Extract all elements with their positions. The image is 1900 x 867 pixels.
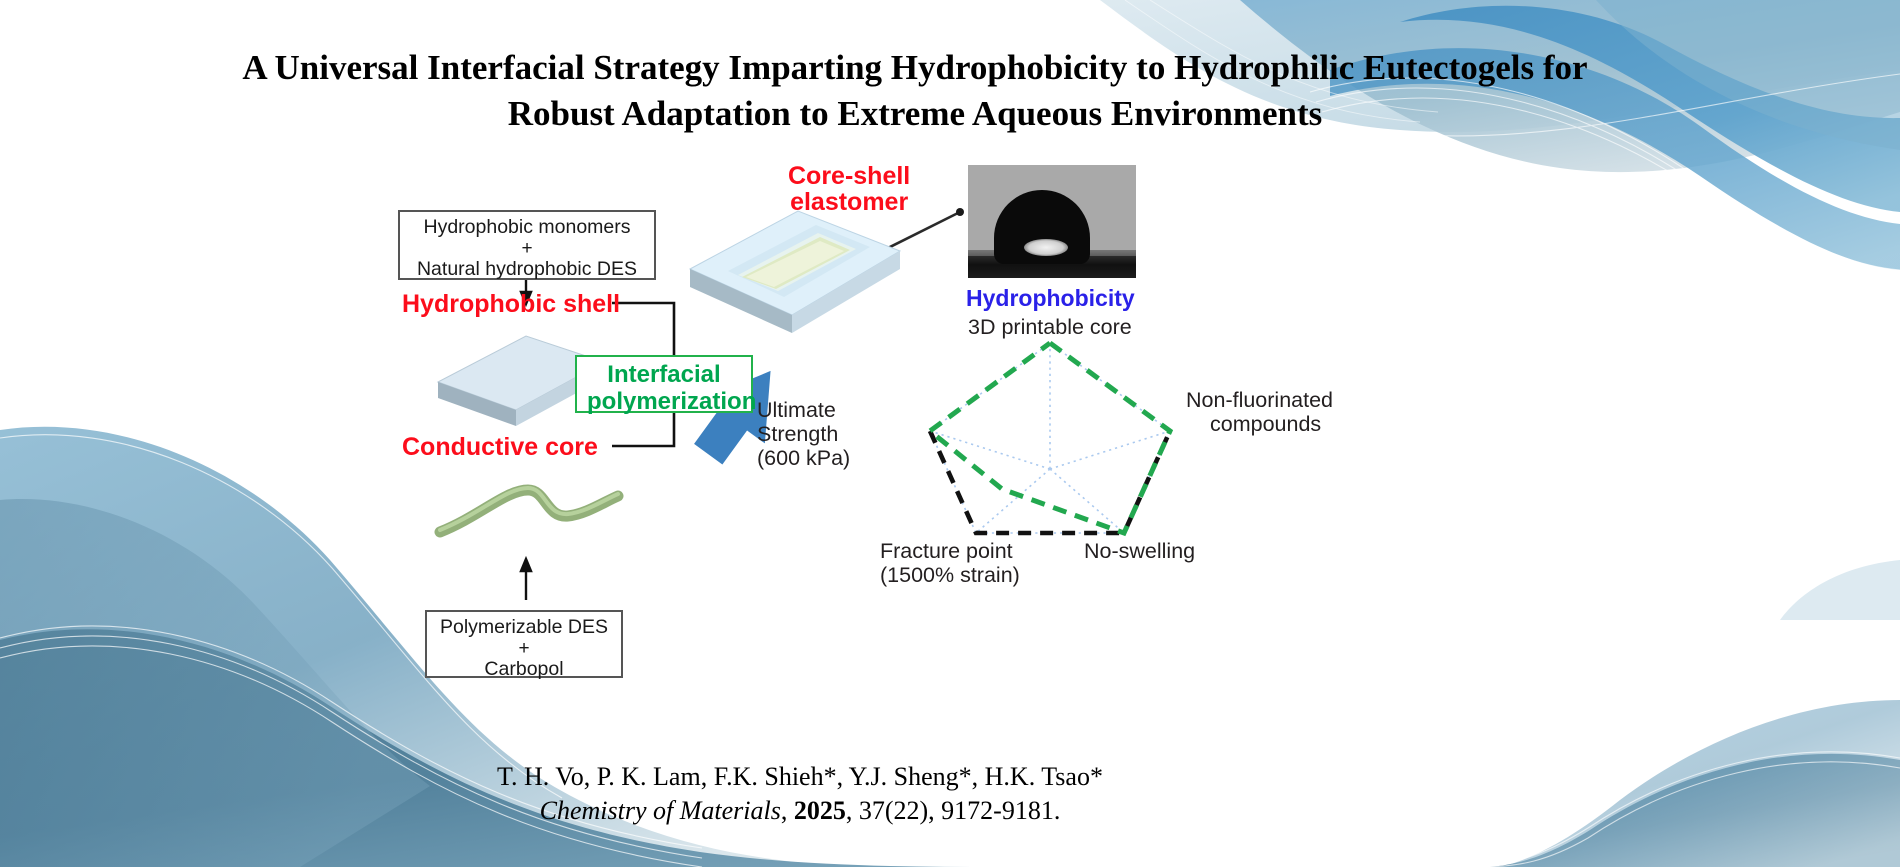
bracket-shell-to-process	[612, 303, 674, 360]
ultimate-line-1: Ultimate	[757, 398, 836, 422]
radar-series-reference	[930, 431, 1170, 533]
shell-input-line-1: Hydrophobic monomers	[423, 216, 630, 238]
journal-separator: ,	[781, 796, 794, 825]
product-label-line-1: Core-shell	[788, 162, 910, 190]
core-inputs-box: Polymerizable DES + Carbopol	[425, 610, 623, 678]
fracture-line-1: Fracture point	[880, 539, 1013, 563]
shell-input-plus: +	[408, 239, 646, 258]
droplet-specular-highlight	[1024, 239, 1068, 256]
radar-grid	[930, 343, 1170, 533]
ultimate-line-2: Strength	[757, 422, 838, 446]
core-shell-elastomer-slab-icon	[680, 205, 910, 340]
conductive-core-label: Conductive core	[402, 433, 598, 462]
fracture-line-2: (1500% strain)	[880, 563, 1020, 587]
shell-input-line-2: Natural hydrophobic DES	[417, 258, 637, 280]
nonfluor-line-2: compounds	[1186, 412, 1321, 436]
arrow-core-inputs-to-core	[521, 559, 531, 600]
core-input-line-2: Carbopol	[484, 658, 563, 680]
title-line-2: Robust Adaptation to Extreme Aqueous Env…	[50, 91, 1780, 137]
interfacial-polymerization-box: Interfacial polymerization	[575, 355, 753, 413]
hydrophobicity-label: Hydrophobicity	[966, 285, 1135, 312]
core-input-line-1: Polymerizable DES	[440, 616, 608, 638]
journal-year: 2025	[794, 796, 846, 825]
core-shell-elastomer-label: Core-shell elastomer	[788, 163, 910, 216]
conductive-core-fiber-icon	[428, 470, 628, 550]
title-line-1: A Universal Interfacial Strategy Imparti…	[242, 48, 1587, 87]
hydrophobic-shell-label: Hydrophobic shell	[402, 290, 620, 319]
radar-axis-label-fracture-point: Fracture point (1500% strain)	[880, 539, 1020, 587]
core-input-plus: +	[435, 639, 613, 658]
graphical-abstract: Hydrophobic monomers + Natural hydrophob…	[380, 155, 1560, 605]
citation-authors: T. H. Vo, P. K. Lam, F.K. Shieh*, Y.J. S…	[300, 760, 1300, 794]
journal-rest: , 37(22), 9172-9181.	[846, 796, 1060, 825]
nonfluor-line-1: Non-fluorinated	[1186, 388, 1333, 412]
water-droplet-contact-angle-photo	[968, 165, 1136, 278]
ultimate-line-3: (600 kPa)	[757, 446, 850, 470]
citation: T. H. Vo, P. K. Lam, F.K. Shieh*, Y.J. S…	[300, 760, 1300, 829]
journal-name: Chemistry of Materials	[540, 796, 781, 825]
shell-inputs-box: Hydrophobic monomers + Natural hydrophob…	[398, 210, 656, 280]
citation-journal: Chemistry of Materials, 2025, 37(22), 91…	[300, 794, 1300, 828]
radar-axis-label-3d-printable-core: 3D printable core	[968, 315, 1132, 339]
page-title: A Universal Interfacial Strategy Imparti…	[50, 45, 1780, 136]
radar-axis-label-no-swelling: No-swelling	[1084, 539, 1195, 563]
radar-axis-label-ultimate-strength: Ultimate Strength (600 kPa)	[757, 398, 850, 470]
process-line-1: Interfacial	[607, 361, 720, 388]
radar-axis-label-non-fluorinated: Non-fluorinated compounds	[1186, 388, 1333, 436]
process-line-2: polymerization	[587, 388, 756, 415]
product-label-line-2: elastomer	[790, 188, 908, 216]
